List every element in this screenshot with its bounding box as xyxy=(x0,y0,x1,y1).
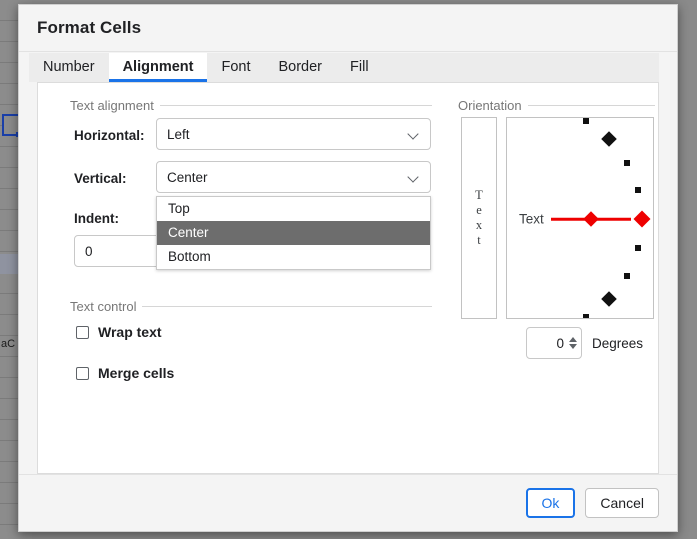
text-control-legend-label: Text control xyxy=(70,299,136,314)
chevron-down-icon xyxy=(408,128,420,140)
ok-button[interactable]: Ok xyxy=(526,488,576,518)
tab-border[interactable]: Border xyxy=(264,53,336,82)
text-control-group-legend: Text control xyxy=(70,299,432,314)
legend-rule xyxy=(160,105,432,106)
dial-marker--60[interactable] xyxy=(583,314,589,319)
dial-marker-60[interactable] xyxy=(583,118,589,124)
dropdown-option-top[interactable]: Top xyxy=(157,197,430,221)
format-cells-dialog: Format Cells Number Alignment Font Borde… xyxy=(18,4,678,532)
vertical-text-letter-e: e xyxy=(476,203,482,218)
vertical-select[interactable]: Center xyxy=(156,161,431,193)
dialog-title-bar: Format Cells xyxy=(19,5,677,52)
horizontal-label: Horizontal: xyxy=(74,128,145,143)
dial-marker-15[interactable] xyxy=(635,187,641,193)
degrees-input-value: 0 xyxy=(556,336,564,351)
vertical-label: Vertical: xyxy=(74,171,127,186)
legend-rule xyxy=(528,105,655,106)
orientation-dial-knob[interactable] xyxy=(583,211,599,227)
orientation-legend-label: Orientation xyxy=(458,98,522,113)
horizontal-select-value: Left xyxy=(167,127,408,142)
cancel-button[interactable]: Cancel xyxy=(585,488,659,518)
text-alignment-legend-label: Text alignment xyxy=(70,98,154,113)
dialog-footer: Ok Cancel xyxy=(19,474,677,531)
merge-cells-checkbox[interactable] xyxy=(76,367,89,380)
indent-input-value: 0 xyxy=(85,244,93,259)
orientation-dial-text-label: Text xyxy=(519,212,544,227)
alignment-panel: Text alignment Horizontal: Left Vertical… xyxy=(37,82,659,474)
vertical-text-letter-t1: T xyxy=(475,188,483,203)
degrees-input[interactable]: 0 xyxy=(526,327,582,359)
indent-label: Indent: xyxy=(74,211,119,226)
tab-strip: Number Alignment Font Border Fill xyxy=(19,52,677,82)
chevron-down-icon xyxy=(408,171,420,183)
tab-alignment[interactable]: Alignment xyxy=(109,53,208,82)
wrap-text-label: Wrap text xyxy=(98,324,162,340)
dropdown-option-center[interactable]: Center xyxy=(157,221,430,245)
vertical-dropdown-list[interactable]: Top Center Bottom xyxy=(156,196,431,270)
dial-marker--30[interactable] xyxy=(624,273,630,279)
degrees-label: Degrees xyxy=(592,336,643,351)
text-alignment-group-legend: Text alignment xyxy=(70,98,432,113)
tab-font[interactable]: Font xyxy=(207,53,264,82)
degrees-spinner[interactable] xyxy=(568,337,577,349)
tab-number[interactable]: Number xyxy=(29,53,109,82)
orientation-group-legend: Orientation xyxy=(458,98,655,113)
wrap-text-checkbox-row[interactable]: Wrap text xyxy=(76,324,162,340)
vertical-text-button[interactable]: T e x t xyxy=(461,117,497,319)
tab-strip-filler xyxy=(383,53,659,82)
tab-fill[interactable]: Fill xyxy=(336,53,383,82)
dial-marker-30[interactable] xyxy=(624,160,630,166)
wrap-text-checkbox[interactable] xyxy=(76,326,89,339)
dial-marker--45[interactable] xyxy=(601,291,617,307)
dropdown-option-bottom[interactable]: Bottom xyxy=(157,245,430,269)
dial-marker-45[interactable] xyxy=(601,131,617,147)
legend-rule xyxy=(142,306,432,307)
vertical-text-letter-x: x xyxy=(476,218,482,233)
merge-cells-label: Merge cells xyxy=(98,365,174,381)
dial-marker--15[interactable] xyxy=(635,245,641,251)
triangle-down-icon[interactable] xyxy=(569,344,577,349)
triangle-up-icon[interactable] xyxy=(569,337,577,342)
orientation-dial[interactable]: Text xyxy=(506,117,654,319)
dial-marker-selected-0[interactable] xyxy=(634,211,651,228)
degrees-row: 0 Degrees xyxy=(526,327,643,359)
merge-cells-checkbox-row[interactable]: Merge cells xyxy=(76,365,174,381)
page-title: Format Cells xyxy=(37,18,141,38)
vertical-text-letter-t2: t xyxy=(477,233,480,248)
spreadsheet-cell-text: aC xyxy=(1,338,15,350)
horizontal-select[interactable]: Left xyxy=(156,118,431,150)
vertical-select-value: Center xyxy=(167,170,408,185)
